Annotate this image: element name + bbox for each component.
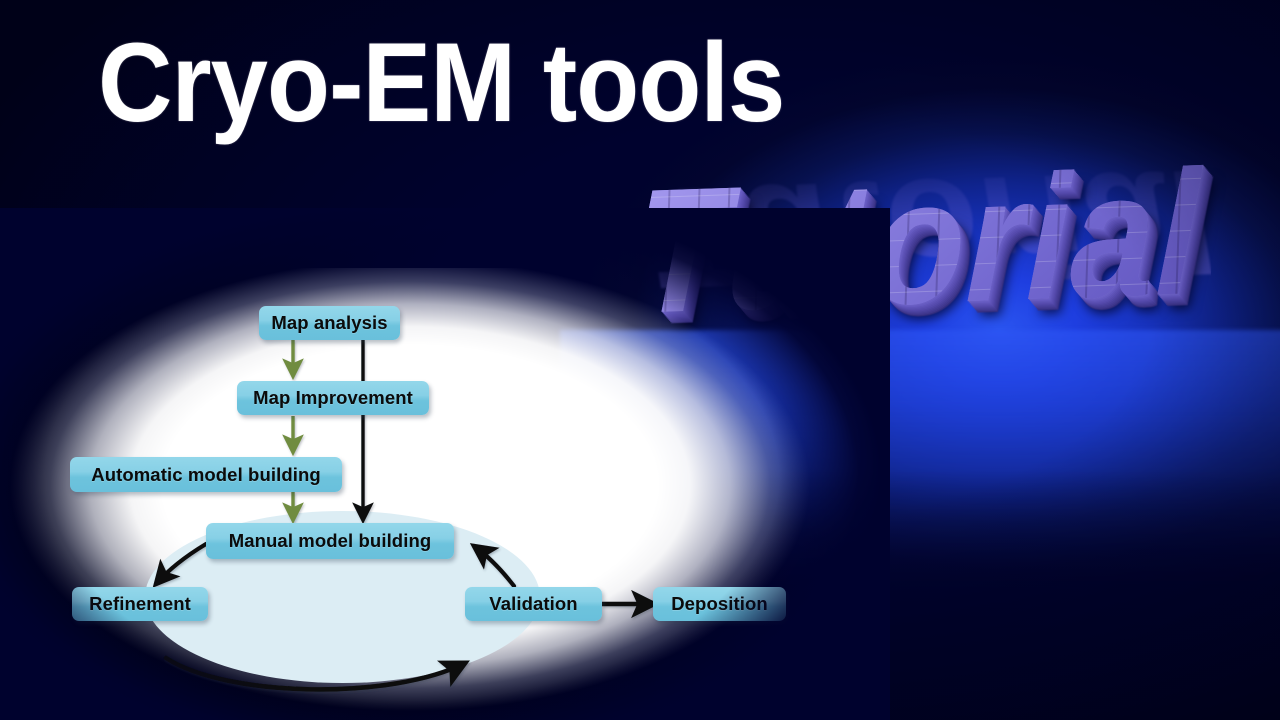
node-label: Automatic model building	[91, 464, 321, 486]
node-label: Deposition	[671, 593, 768, 615]
node-manual-model-building[interactable]: Manual model building	[206, 523, 454, 559]
slide-title: Cryo-EM tools	[98, 24, 784, 142]
node-label: Map analysis	[271, 312, 387, 334]
slide-canvas: Tutorial Tutorial Tutorial Cryo-EM tools	[0, 0, 1280, 720]
diagram-arrows	[10, 268, 810, 720]
node-refinement[interactable]: Refinement	[72, 587, 208, 621]
node-map-analysis[interactable]: Map analysis	[259, 306, 400, 340]
node-map-improvement[interactable]: Map Improvement	[237, 381, 429, 415]
diagram-spotlight: Map analysis Map Improvement Automatic m…	[10, 268, 810, 720]
node-deposition[interactable]: Deposition	[653, 587, 786, 621]
node-label: Validation	[489, 593, 577, 615]
node-label: Refinement	[89, 593, 191, 615]
node-validation[interactable]: Validation	[465, 587, 602, 621]
node-automatic-model-building[interactable]: Automatic model building	[70, 457, 342, 492]
node-label: Manual model building	[229, 530, 432, 552]
cryoem-workflow-diagram: Map analysis Map Improvement Automatic m…	[10, 268, 810, 720]
node-label: Map Improvement	[253, 387, 413, 409]
